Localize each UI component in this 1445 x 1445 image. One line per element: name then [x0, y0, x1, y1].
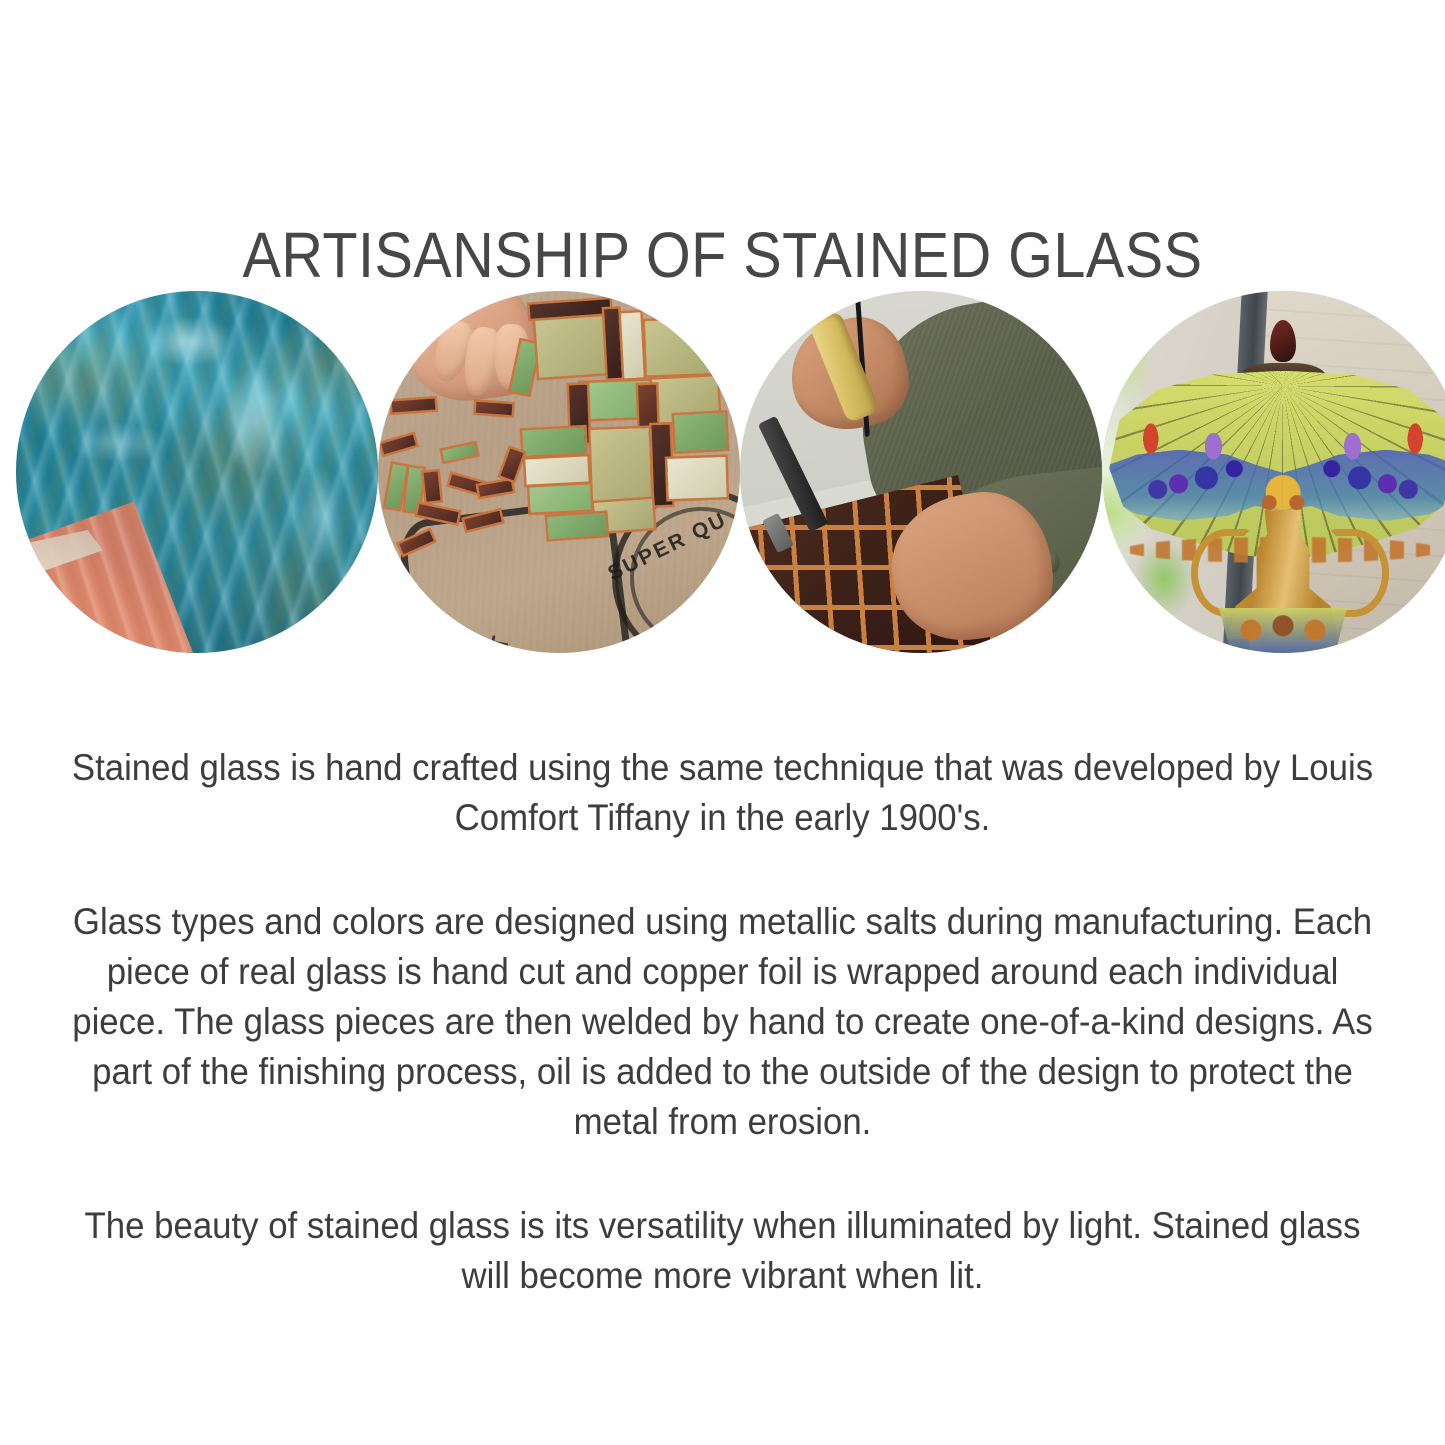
glass-tile — [590, 428, 651, 510]
infographic-page: ARTISANSHIP OF STAINED GLASS POST SUPER … — [0, 0, 1445, 1445]
gallery-image-soldering — [740, 291, 1102, 653]
description-text: Stained glass is hand crafted using the … — [22, 706, 1423, 1338]
paragraph-1: Stained glass is hand crafted using the … — [64, 743, 1381, 843]
paragraph-2: Glass types and colors are designed usin… — [64, 897, 1381, 1147]
glass-offcut — [424, 471, 441, 501]
page-title: ARTISANSHIP OF STAINED GLASS — [72, 219, 1373, 291]
paragraph-3: The beauty of stained glass is its versa… — [64, 1201, 1381, 1301]
glass-tile — [522, 427, 585, 456]
process-image-gallery: POST SUPER QU — [16, 291, 1429, 654]
glass-tile — [645, 319, 719, 376]
gallery-image-copper-foiling: POST SUPER QU — [378, 291, 740, 653]
glass-tile — [526, 456, 589, 485]
glass-tile — [529, 485, 592, 514]
gallery-image-tiffany-lamp — [1102, 291, 1445, 653]
glass-tile — [667, 457, 726, 499]
gallery-image-glass-sheet — [16, 291, 378, 653]
glass-tile — [674, 413, 726, 452]
glass-tile — [547, 513, 606, 539]
